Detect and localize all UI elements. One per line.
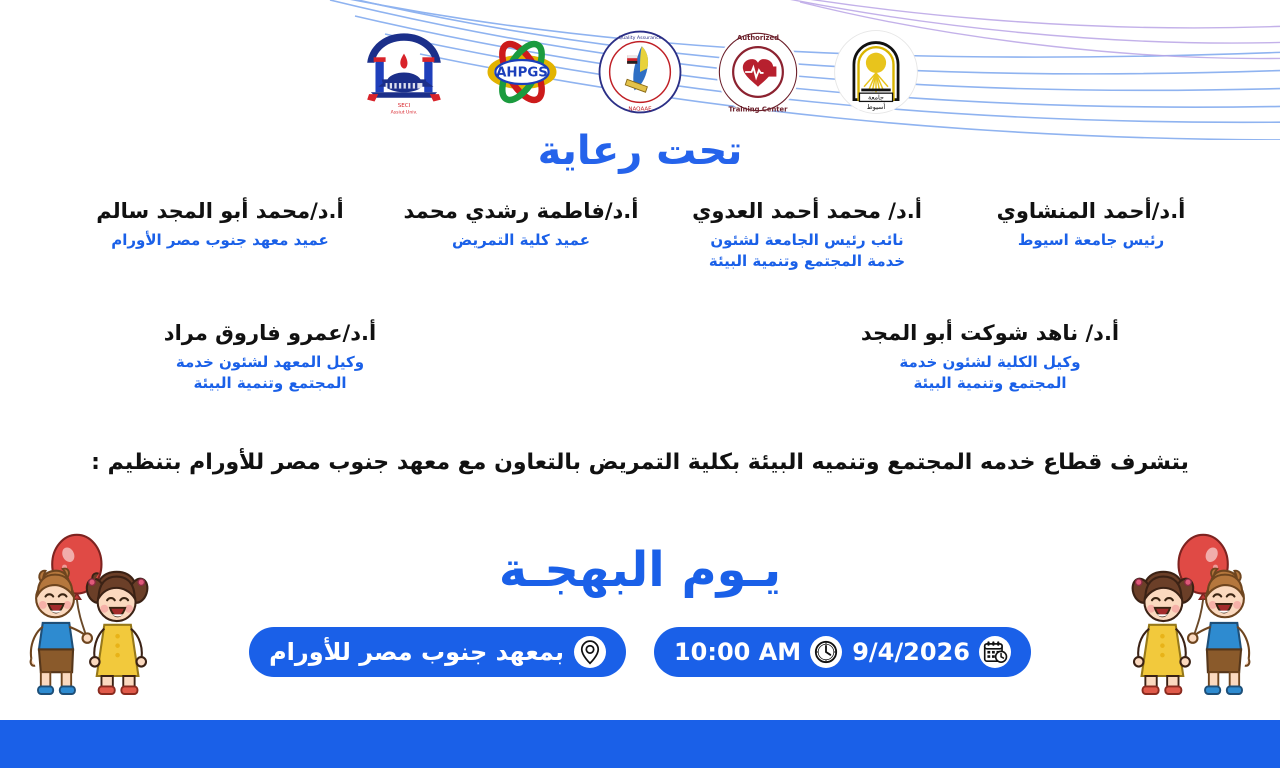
patron-ahmed-elmenshawy: أ.د/أحمد المنشاوي رئيس جامعة اسيوط <box>957 198 1225 251</box>
patrons-row-primary: أ.د/أحمد المنشاوي رئيس جامعة اسيوط أ.د/ … <box>0 198 1280 271</box>
aha-authorized-training-center-logo: Authorized Training Center <box>710 24 806 120</box>
patron-mohamed-abuelmagd-salem: أ.د/محمد أبو المجد سالم عميد معهد جنوب م… <box>55 198 385 251</box>
patron-name: أ.د/فاطمة رشدي محمد <box>391 198 651 225</box>
svg-text:أسيوط: أسيوط <box>867 102 886 111</box>
patrons-row-secondary: أ.د/ ناهد شوكت أبو المجد وكيل الكلية لشئ… <box>0 320 1280 393</box>
patron-name: أ.د/أحمد المنشاوي <box>963 198 1219 225</box>
svg-text:جامعة: جامعة <box>868 94 884 102</box>
calendar-icon <box>979 636 1011 668</box>
patron-amr-farouk-morad: أ.د/عمرو فاروق مراد وكيل المعهد لشئون خد… <box>120 320 420 393</box>
naqaae-logo-label: NAQAAE <box>628 107 652 113</box>
event-poster: SECI Assiut Univ. AHPGS <box>0 0 1280 768</box>
patron-name: أ.د/عمرو فاروق مراد <box>126 320 414 347</box>
naqaae-logo: Quality Assurance NAQAAE <box>592 24 688 120</box>
svg-text:Quality Assurance: Quality Assurance <box>618 35 661 41</box>
patronage-heading: تحت رعاية <box>0 128 1280 174</box>
patron-name: أ.د/محمد أبو المجد سالم <box>61 198 379 225</box>
time-text: 10:00 AM <box>674 638 801 666</box>
aha-logo-bottom-label: Training Center <box>728 106 788 114</box>
ahpgs-logo-label: AHPGS <box>496 66 548 81</box>
svg-text:Assiut Univ.: Assiut Univ. <box>391 109 418 115</box>
intro-paragraph: يتشرف قطاع خدمه المجتمع وتنميه البيئة بك… <box>80 446 1200 479</box>
time-date-pill[interactable]: 9/4/2026 10:00 AM <box>654 627 1031 677</box>
patron-name: أ.د/ ناهد شوكت أبو المجد <box>826 320 1154 347</box>
patron-mohamed-ahmed-eladawy: أ.د/ محمد أحمد العدوي نائب رئيس الجامعة … <box>657 198 957 271</box>
assiut-university-logo: جامعة أسيوط <box>828 24 924 120</box>
patron-nahed-shawkat-abuelmagd: أ.د/ ناهد شوكت أبو المجد وكيل الكلية لشئ… <box>820 320 1160 393</box>
sponsor-logos-row: SECI Assiut Univ. AHPGS <box>0 22 1280 122</box>
svg-text:SECI: SECI <box>398 103 411 109</box>
bottom-accent-bar <box>0 720 1280 768</box>
clock-icon <box>810 636 842 668</box>
south-egypt-cancer-institute-logo: SECI Assiut Univ. <box>356 24 452 120</box>
time-group: 10:00 AM <box>674 636 842 668</box>
aha-logo-top-label: Authorized <box>737 34 779 42</box>
ahpgs-accreditation-logo: AHPGS <box>474 24 570 120</box>
venue-pill[interactable]: بمعهد جنوب مصر للأورام <box>249 627 626 677</box>
event-details-pills: بمعهد جنوب مصر للأورام <box>0 627 1280 677</box>
patron-name: أ.د/ محمد أحمد العدوي <box>663 198 951 225</box>
date-text: 9/4/2026 <box>852 638 970 666</box>
patron-title: عميد كلية التمريض <box>391 230 651 250</box>
venue-text: بمعهد جنوب مصر للأورام <box>269 638 564 666</box>
patron-fatma-roshdy-mohamed: أ.د/فاطمة رشدي محمد عميد كلية التمريض <box>385 198 657 251</box>
location-pin-icon <box>574 636 606 668</box>
patron-title: نائب رئيس الجامعة لشئون خدمة المجتمع وتن… <box>705 230 910 271</box>
patron-title: عميد معهد جنوب مصر الأورام <box>61 230 379 250</box>
patron-title: وكيل الكلية لشئون خدمة المجتمع وتنمية ال… <box>888 352 1093 393</box>
event-title: يـوم البهجـة <box>0 540 1280 600</box>
date-group: 9/4/2026 <box>852 636 1011 668</box>
patron-title: رئيس جامعة اسيوط <box>963 230 1219 250</box>
patron-title: وكيل المعهد لشئون خدمة المجتمع وتنمية ال… <box>168 352 373 393</box>
